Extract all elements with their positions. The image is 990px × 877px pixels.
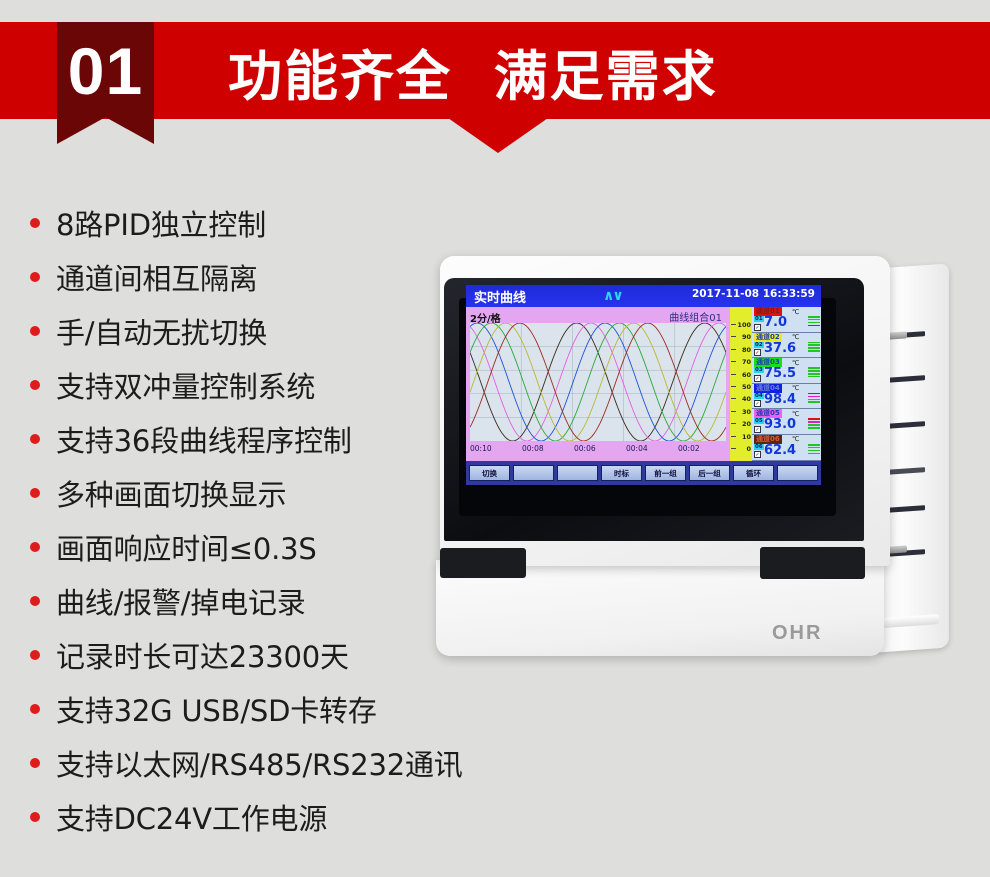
- lcd-softkey-bar: 切换时标前一组后一组循环: [466, 461, 821, 485]
- curve-group-label: 曲线组合01: [669, 309, 722, 324]
- channel-unit: ℃: [792, 308, 799, 316]
- feature-item: 支持36段曲线程序控制: [30, 412, 460, 466]
- feature-item: 支持以太网/RS485/RS232通讯: [30, 736, 460, 790]
- scale-tick-mark: [731, 386, 736, 387]
- scale-tick-label: 100: [737, 321, 751, 329]
- channel-value: 98.4: [764, 392, 796, 407]
- scale-tick-label: 80: [742, 346, 751, 354]
- status-bar-segment: [808, 347, 820, 349]
- status-bar-segment: [808, 418, 820, 420]
- feature-label: 支持以太网/RS485/RS232通讯: [56, 742, 463, 784]
- device-main-body: 实时曲线 ∧∨ 2017-11-08 16:33:59 2分/格 曲线组合01 …: [440, 256, 890, 566]
- status-bar-segment: [808, 322, 820, 324]
- channel-value: 62.4: [764, 443, 796, 458]
- status-bar-segment: [808, 316, 820, 318]
- scale-tick-label: 90: [742, 333, 751, 341]
- bullet-icon: [30, 272, 40, 282]
- status-bar-segment: [808, 401, 820, 403]
- bullet-icon: [30, 812, 40, 822]
- trend-curve: [470, 323, 726, 441]
- status-bar-segment: [808, 342, 820, 344]
- channel-body: 05✓93.0: [752, 418, 821, 434]
- channel-enable-checkbox[interactable]: ✓: [754, 400, 761, 407]
- channel-enable-checkbox[interactable]: ✓: [754, 451, 761, 458]
- bullet-icon: [30, 488, 40, 498]
- bullet-icon: [30, 596, 40, 606]
- device-front-trim-left: [440, 548, 526, 578]
- page-title: 功能齐全 满足需求: [228, 28, 718, 114]
- brand-logo: OHR: [772, 622, 822, 645]
- lcd-screen-title: 实时曲线: [474, 287, 526, 306]
- bullet-icon: [30, 650, 40, 660]
- lcd-title-bar: 实时曲线 ∧∨ 2017-11-08 16:33:59: [466, 285, 821, 307]
- time-tick-label: 00:02: [678, 444, 700, 453]
- scale-tick-mark: [731, 436, 736, 437]
- scale-tick-mark: [731, 324, 736, 325]
- scale-tick-mark: [731, 423, 736, 424]
- feature-label: 支持32G USB/SD卡转存: [56, 688, 377, 730]
- status-bar-segment: [808, 450, 820, 452]
- section-number: 01: [68, 38, 143, 104]
- page-root: 01 功能齐全 满足需求 8路PID独立控制通道间相互隔离手/自动无扰切换支持双…: [0, 0, 990, 877]
- feature-label: 支持36段曲线程序控制: [56, 418, 352, 460]
- channel-enable-checkbox[interactable]: ✓: [754, 375, 761, 382]
- section-number-badge: 01: [57, 22, 154, 144]
- value-scale-strip: 1009080706050403020100: [730, 307, 752, 461]
- scale-tick-mark: [731, 411, 736, 412]
- status-bar-segment: [808, 344, 820, 346]
- channel-row[interactable]: 通道05℃05✓93.0: [752, 409, 821, 435]
- channel-row[interactable]: 通道06℃06✓62.4: [752, 435, 821, 461]
- channel-row[interactable]: 通道03℃03✓75.5: [752, 358, 821, 384]
- softkey-button[interactable]: [513, 465, 554, 481]
- feature-item: 支持32G USB/SD卡转存: [30, 682, 460, 736]
- feature-item: 画面响应时间≤0.3S: [30, 520, 460, 574]
- feature-item: 支持双冲量控制系统: [30, 358, 460, 412]
- channel-enable-checkbox[interactable]: ✓: [754, 324, 761, 331]
- status-bar-segment: [808, 399, 820, 401]
- feature-list: 8路PID独立控制通道间相互隔离手/自动无扰切换支持双冲量控制系统支持36段曲线…: [30, 196, 460, 844]
- time-tick-label: 00:06: [574, 444, 596, 453]
- channel-status-bars: [808, 444, 820, 456]
- scale-tick-label: 50: [742, 383, 751, 391]
- scale-tick-label: 60: [742, 371, 751, 379]
- status-bar-segment: [808, 424, 820, 426]
- status-bar-segment: [808, 393, 820, 395]
- channel-value: 75.5: [764, 366, 796, 381]
- status-bar-segment: [808, 427, 820, 429]
- status-bar-segment: [808, 319, 820, 321]
- scale-tick-label: 70: [742, 358, 751, 366]
- bullet-icon: [30, 758, 40, 768]
- channel-status-bars: [808, 316, 820, 328]
- feature-item: 多种画面切换显示: [30, 466, 460, 520]
- channel-row[interactable]: 通道01℃01✓7.0: [752, 307, 821, 333]
- header-arrow-pointer: [448, 118, 548, 153]
- channel-index: 03: [754, 367, 764, 373]
- trend-plot-panel[interactable]: 2分/格 曲线组合01 00:1000:0800:0600:0400:02: [466, 307, 730, 461]
- feature-item: 8路PID独立控制: [30, 196, 460, 250]
- status-bar-segment: [808, 325, 820, 327]
- channel-value: 37.6: [764, 341, 796, 356]
- trend-curve: [470, 323, 726, 441]
- time-tick-label: 00:08: [522, 444, 544, 453]
- status-bar-segment: [808, 367, 820, 369]
- status-bar-segment: [808, 421, 820, 423]
- channel-body: 03✓75.5: [752, 367, 821, 383]
- time-tick-label: 00:10: [470, 444, 492, 453]
- bullet-icon: [30, 380, 40, 390]
- softkey-button[interactable]: 后一组: [689, 465, 730, 481]
- bracket-foot: [883, 614, 939, 628]
- status-bar-segment: [808, 396, 820, 398]
- trend-curves-svg: [470, 323, 726, 441]
- feature-label: 支持DC24V工作电源: [56, 796, 327, 838]
- channel-row[interactable]: 通道02℃02✓37.6: [752, 333, 821, 359]
- bullet-icon: [30, 542, 40, 552]
- softkey-button[interactable]: [777, 465, 818, 481]
- bullet-icon: [30, 218, 40, 228]
- softkey-button[interactable]: 循环: [733, 465, 774, 481]
- channel-body: 06✓62.4: [752, 444, 821, 460]
- channel-index: 04: [754, 393, 764, 399]
- channel-body: 02✓37.6: [752, 342, 821, 358]
- softkey-button[interactable]: 切换: [469, 465, 510, 481]
- channel-body: 01✓7.0: [752, 316, 821, 332]
- channel-enable-checkbox[interactable]: ✓: [754, 426, 761, 433]
- channel-value: 93.0: [764, 417, 796, 432]
- status-bar-segment: [808, 453, 820, 455]
- trend-curve: [470, 323, 726, 441]
- feature-label: 手/自动无扰切换: [56, 310, 267, 352]
- channel-index: 01: [754, 316, 764, 322]
- wave-logo-icon: ∧∨: [603, 288, 622, 304]
- channel-status-bars: [808, 342, 820, 354]
- feature-label: 曲线/报警/掉电记录: [56, 580, 306, 622]
- channel-index: 05: [754, 418, 764, 424]
- feature-label: 8路PID独立控制: [56, 202, 266, 244]
- softkey-button[interactable]: 前一组: [645, 465, 686, 481]
- channel-row[interactable]: 通道04℃04✓98.4: [752, 384, 821, 410]
- bullet-icon: [30, 434, 40, 444]
- lcd-screen[interactable]: 实时曲线 ∧∨ 2017-11-08 16:33:59 2分/格 曲线组合01 …: [466, 285, 821, 485]
- device-illustration: 实时曲线 ∧∨ 2017-11-08 16:33:59 2分/格 曲线组合01 …: [420, 250, 990, 710]
- trend-chart-canvas: [470, 323, 726, 441]
- feature-item: 支持DC24V工作电源: [30, 790, 460, 844]
- feature-item: 曲线/报警/掉电记录: [30, 574, 460, 628]
- lcd-datetime: 2017-11-08 16:33:59: [692, 288, 815, 300]
- status-bar-segment: [808, 370, 820, 372]
- channel-status-bars: [808, 393, 820, 405]
- channel-index: 02: [754, 342, 764, 348]
- feature-label: 画面响应时间≤0.3S: [56, 526, 317, 568]
- status-bar-segment: [808, 444, 820, 446]
- status-bar-segment: [808, 373, 820, 375]
- scale-tick-label: 10: [742, 433, 751, 441]
- scale-tick-label: 40: [742, 395, 751, 403]
- trend-curve: [470, 323, 726, 441]
- lcd-main-area: 2分/格 曲线组合01 00:1000:0800:0600:0400:02 10…: [466, 307, 821, 461]
- feature-label: 支持双冲量控制系统: [56, 364, 315, 406]
- scale-tick-label: 20: [742, 420, 751, 428]
- scale-tick-mark: [731, 398, 736, 399]
- scale-tick-label: 30: [742, 408, 751, 416]
- feature-label: 多种画面切换显示: [56, 472, 286, 514]
- trend-curve: [470, 323, 726, 441]
- bullet-icon: [30, 704, 40, 714]
- channel-status-bars: [808, 367, 820, 379]
- scale-tick-mark: [731, 349, 736, 350]
- status-bar-segment: [808, 350, 820, 352]
- scale-tick-mark: [731, 448, 736, 449]
- channel-readout-panel: 通道01℃01✓7.0通道02℃02✓37.6通道03℃03✓75.5通道04℃…: [752, 307, 821, 461]
- trend-curve: [470, 323, 726, 441]
- feature-item: 通道间相互隔离: [30, 250, 460, 304]
- status-bar-segment: [808, 447, 820, 449]
- channel-value: 7.0: [764, 315, 787, 330]
- bullet-icon: [30, 326, 40, 336]
- channel-status-bars: [808, 418, 820, 430]
- status-bar-segment: [808, 376, 820, 378]
- channel-enable-checkbox[interactable]: ✓: [754, 349, 761, 356]
- scale-tick-mark: [731, 336, 736, 337]
- feature-item: 手/自动无扰切换: [30, 304, 460, 358]
- time-axis-labels: 00:1000:0800:0600:0400:02: [466, 443, 730, 457]
- feature-label: 记录时长可达23300天: [56, 634, 349, 676]
- scale-tick-label: 0: [746, 445, 751, 453]
- channel-body: 04✓98.4: [752, 393, 821, 409]
- scale-tick-mark: [731, 374, 736, 375]
- scale-tick-mark: [731, 361, 736, 362]
- softkey-button[interactable]: [557, 465, 598, 481]
- softkey-button[interactable]: 时标: [601, 465, 642, 481]
- time-tick-label: 00:04: [626, 444, 648, 453]
- feature-label: 通道间相互隔离: [56, 256, 258, 298]
- channel-index: 06: [754, 444, 764, 450]
- device-front-trim-right: [760, 547, 865, 579]
- feature-item: 记录时长可达23300天: [30, 628, 460, 682]
